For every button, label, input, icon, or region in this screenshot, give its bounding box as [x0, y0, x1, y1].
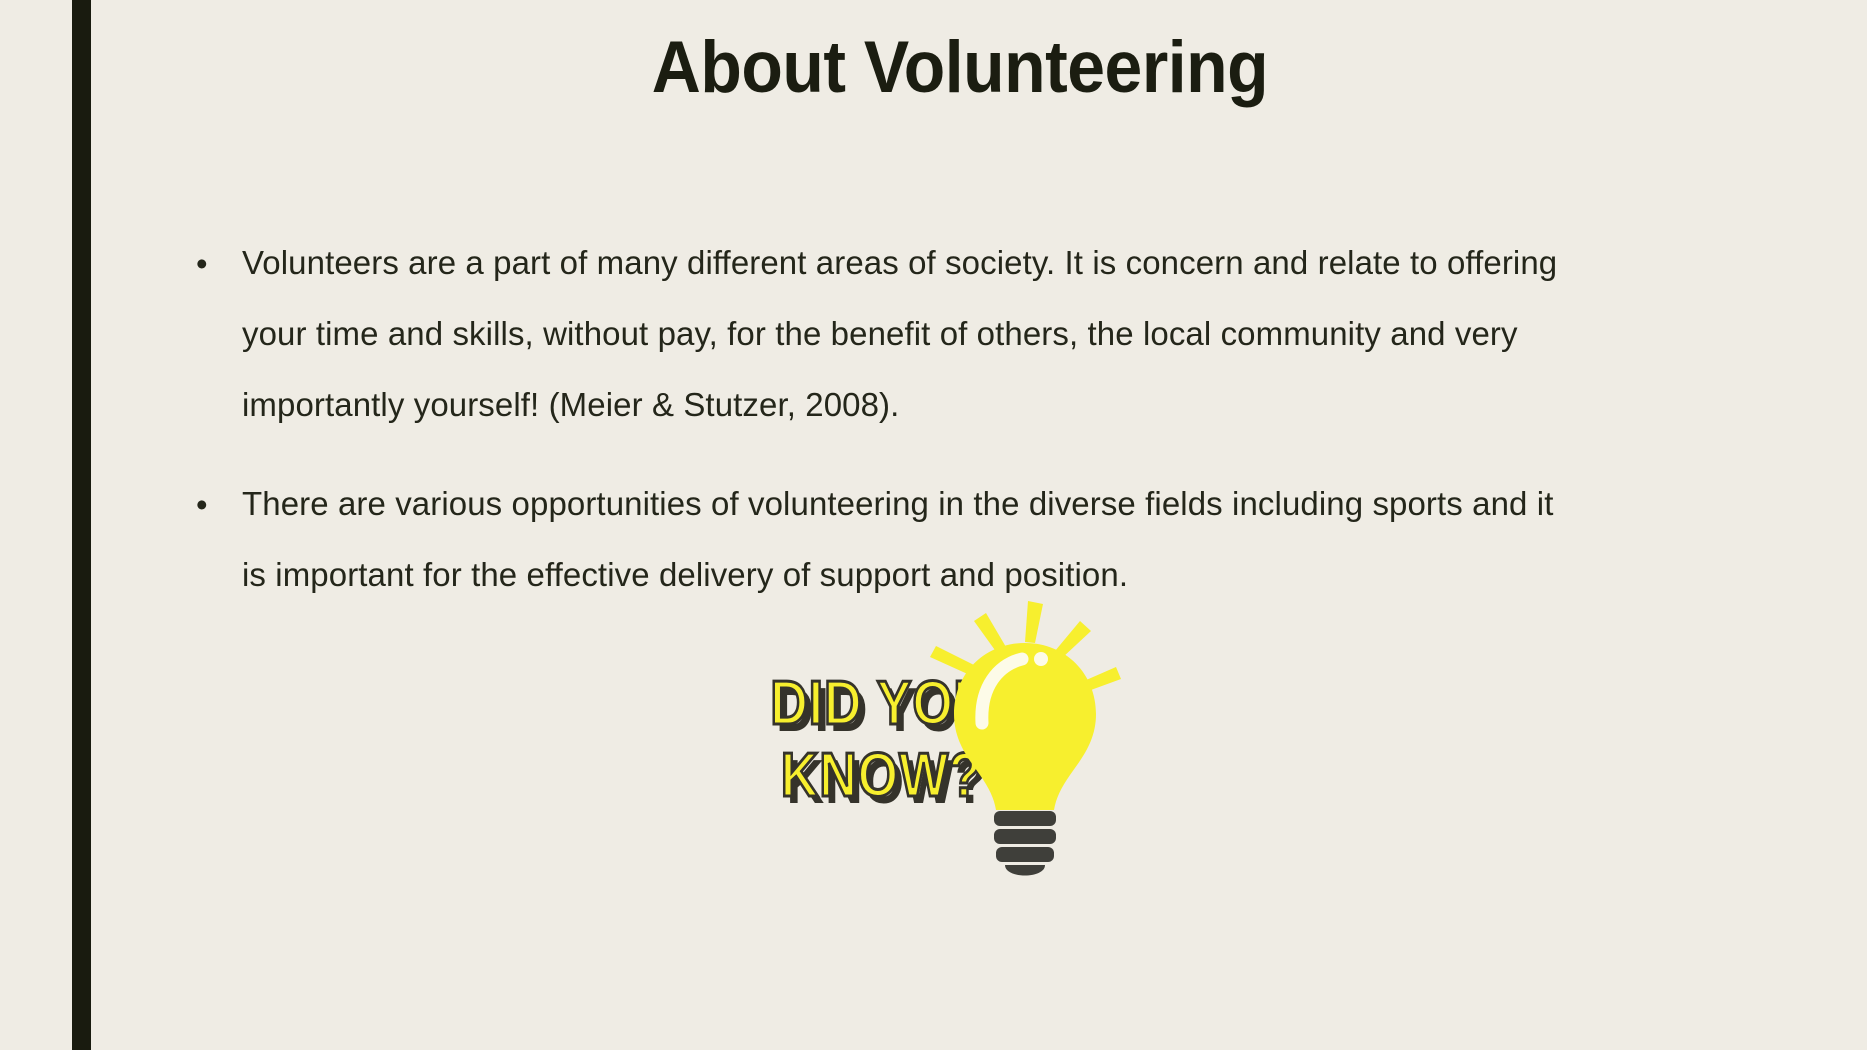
bullet-list: • Volunteers are a part of many differen… [190, 228, 1590, 639]
lightbulb-base [994, 811, 1056, 876]
left-accent-bar [72, 0, 91, 1050]
bullet-marker-icon: • [190, 228, 242, 299]
lightbulb-icon [910, 595, 1140, 885]
bullet-text: Volunteers are a part of many different … [242, 228, 1570, 441]
did-you-know-graphic: DID YOU KNOW? [730, 640, 1350, 960]
bullet-marker-icon: • [190, 469, 242, 540]
page-title: About Volunteering [170, 28, 1751, 108]
list-item: • There are various opportunities of vol… [190, 469, 1590, 611]
lightbulb-glass [954, 643, 1096, 810]
list-item: • Volunteers are a part of many differen… [190, 228, 1590, 441]
slide-canvas: About Volunteering • Volunteers are a pa… [0, 0, 1867, 1050]
bullet-text: There are various opportunities of volun… [242, 469, 1570, 611]
